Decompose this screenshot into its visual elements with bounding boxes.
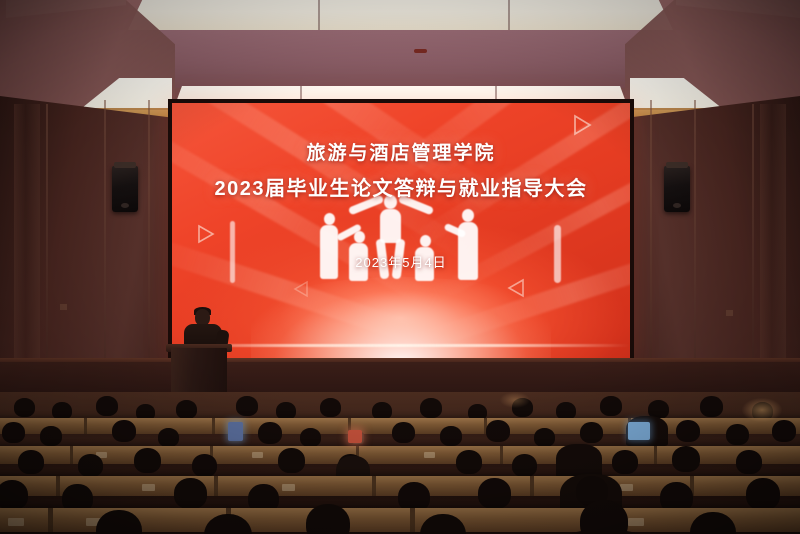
audience-head: [700, 396, 723, 417]
screen-title-line-2: 2023届毕业生论文答辩与就业指导大会: [172, 173, 630, 205]
audience-head: [320, 398, 341, 417]
silhouette-head: [420, 235, 431, 247]
play-triangle-icon: [292, 279, 312, 299]
silhouette-head: [462, 209, 474, 222]
seat-divider: [56, 476, 60, 496]
play-triangle-icon: [506, 277, 528, 299]
audience-head: [726, 424, 749, 445]
aisle-light: [500, 392, 530, 408]
audience-head: [2, 422, 25, 443]
audience-head: [612, 450, 638, 474]
seat-divider: [500, 446, 503, 464]
audience-head: [736, 450, 762, 474]
tablet-screen-glow: [228, 422, 243, 441]
audience-head: [236, 396, 258, 416]
play-triangle-icon: [570, 113, 594, 137]
ceiling-light-panel: [128, 0, 673, 30]
audience-head: [478, 478, 511, 509]
audience-head: [174, 478, 207, 509]
seat-number-plate: [620, 484, 633, 491]
wall-speaker-right: [664, 166, 690, 212]
audience-head: [300, 428, 321, 447]
audience-head: [534, 428, 555, 447]
audience-head: [746, 478, 780, 510]
seat-number-plate: [252, 452, 263, 458]
audience-head: [96, 396, 118, 416]
wall-outlet-plate: [726, 310, 733, 316]
audience-head: [158, 428, 179, 447]
seat-divider: [212, 418, 215, 434]
seat-number-plate: [142, 484, 155, 491]
seat-divider: [530, 476, 534, 496]
silhouette-head: [324, 213, 335, 225]
seat-number-plate: [8, 518, 24, 526]
seat-divider: [70, 446, 73, 464]
seat-divider: [654, 446, 657, 464]
audience-head: [456, 450, 482, 474]
wall-panel-seam: [148, 100, 150, 400]
audience-head: [580, 500, 628, 534]
screen-title-line-1: 旅游与酒店管理学院: [172, 141, 630, 167]
audience-head: [392, 422, 415, 443]
seat-divider: [48, 508, 53, 532]
stage-horizon-line: [172, 344, 630, 347]
screen-title-block: 旅游与酒店管理学院 2023届毕业生论文答辩与就业指导大会: [172, 141, 630, 205]
ceiling-panel-seam: [318, 0, 320, 30]
audience-head: [772, 420, 796, 442]
audience-head: [512, 454, 537, 477]
seat-number-plate: [282, 484, 295, 491]
wall-speaker-left: [112, 166, 138, 212]
auditorium-photo: 旅游与酒店管理学院 2023届毕业生论文答辩与就业指导大会 2023年5月4日: [0, 0, 800, 534]
play-triangle-icon: [194, 223, 216, 245]
audience-head: [112, 420, 136, 442]
audience-head: [600, 396, 622, 416]
tablet-screen-glow: [628, 422, 650, 440]
wall-outlet-plate: [60, 304, 67, 310]
silhouette-torso: [380, 209, 401, 243]
seat-number-plate: [424, 452, 435, 458]
seat-divider: [410, 508, 415, 532]
seat-divider: [84, 418, 87, 434]
audience-head: [192, 454, 217, 477]
audience-head: [486, 420, 510, 442]
audience-head: [78, 454, 103, 477]
seat-divider: [372, 476, 376, 496]
ceiling-panel-seam: [508, 0, 510, 30]
led-screen: 旅游与酒店管理学院 2023届毕业生论文答辩与就业指导大会 2023年5月4日: [172, 103, 630, 365]
silhouette-head: [354, 231, 365, 243]
aisle-light: [742, 398, 782, 422]
phone-screen-glow: [348, 430, 362, 443]
wall-panel-seam: [650, 100, 652, 400]
audience-head: [18, 450, 44, 474]
audience-head: [40, 426, 62, 446]
audience-head: [440, 426, 462, 446]
audience-head: [580, 422, 603, 443]
audience-head: [278, 448, 305, 473]
audience-head: [134, 448, 161, 473]
audience-head: [14, 398, 35, 417]
audience-head: [676, 420, 700, 442]
audience-head: [0, 480, 28, 510]
audience-head: [176, 400, 197, 419]
audience-area: [0, 392, 800, 534]
seat-number-plate: [628, 518, 644, 526]
audience-shoulders: [556, 444, 602, 478]
seat-divider: [214, 476, 218, 496]
audience-head: [306, 504, 350, 534]
audience-head: [672, 446, 700, 472]
screen-date: 2023年5月4日: [172, 252, 630, 271]
ceiling-sensor-icon: [414, 49, 427, 53]
audience-head: [258, 422, 282, 444]
audience-head: [420, 398, 442, 418]
